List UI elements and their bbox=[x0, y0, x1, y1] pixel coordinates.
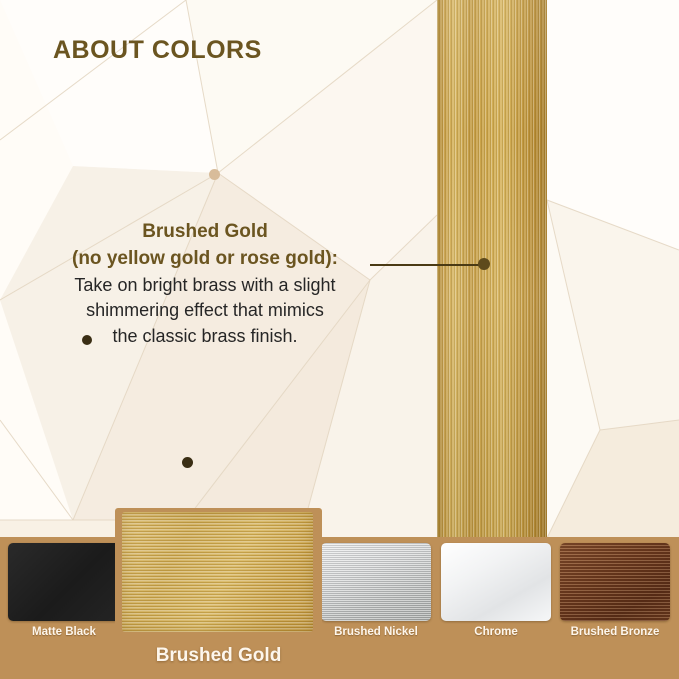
swatch-brushed-gold[interactable] bbox=[122, 512, 313, 632]
swatch-label-brushed-bronze: Brushed Bronze bbox=[560, 626, 670, 638]
swatch-brushed-nickel[interactable] bbox=[321, 543, 431, 621]
swatch-label-brushed-gold: Brushed Gold bbox=[115, 645, 322, 667]
callout-body-line-2: shimmering effect that mimics bbox=[40, 298, 370, 324]
swatch-label-chrome: Chrome bbox=[441, 626, 551, 638]
swatch-brushed-bronze[interactable] bbox=[560, 543, 670, 621]
callout-leader-line bbox=[370, 264, 480, 266]
callout-leader-dot bbox=[478, 258, 490, 270]
swatch-matte-black[interactable] bbox=[8, 543, 120, 621]
brushed-gold-callout: Brushed Gold (no yellow gold or rose gol… bbox=[40, 219, 370, 350]
swatch-label-matte-black: Matte Black bbox=[8, 626, 120, 638]
brushed-gold-sample-bar bbox=[437, 0, 547, 538]
callout-heading-line-2: (no yellow gold or rose gold): bbox=[40, 246, 370, 273]
callout-body-line-3: the classic brass finish. bbox=[40, 324, 370, 350]
swatch-label-brushed-nickel: Brushed Nickel bbox=[321, 626, 431, 638]
decorative-dot-tan bbox=[209, 169, 220, 180]
callout-body-line-1: Take on bright brass with a slight bbox=[40, 273, 370, 299]
swatch-chrome[interactable] bbox=[441, 543, 551, 621]
color-options-infographic: ABOUT COLORS Brushed Gold (no yellow gol… bbox=[0, 0, 679, 679]
callout-heading-line-1: Brushed Gold bbox=[40, 219, 370, 246]
decorative-dot-dark-lower bbox=[182, 457, 193, 468]
page-title: ABOUT COLORS bbox=[53, 36, 262, 65]
